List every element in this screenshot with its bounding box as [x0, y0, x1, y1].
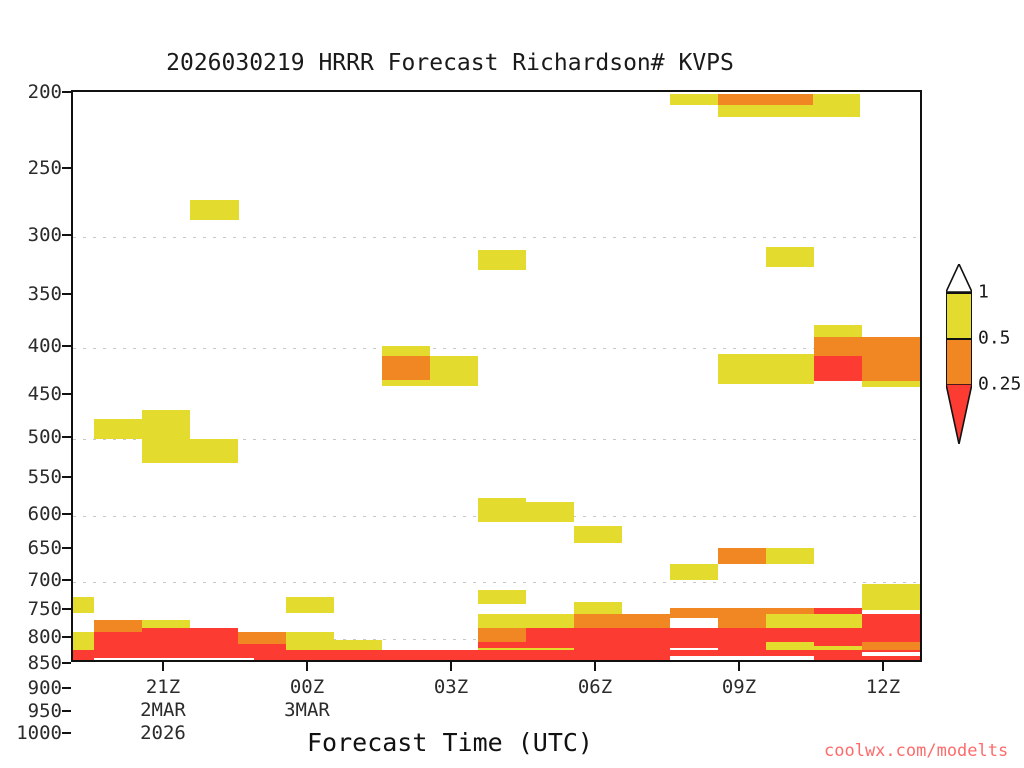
x-tick-label: 09Z [722, 676, 756, 698]
heatmap-cell [718, 354, 814, 384]
y-tick-mark [62, 636, 71, 638]
heatmap-cell [814, 325, 862, 337]
y-tick-label: 500 [0, 426, 62, 448]
y-tick-mark [62, 91, 71, 93]
colorbar-bottom-arrow [946, 384, 972, 444]
y-tick-label: 600 [0, 503, 62, 525]
heatmap-cell [670, 94, 718, 105]
y-tick-label: 400 [0, 335, 62, 357]
x-tick-label: 06Z [578, 676, 612, 698]
gridline-400 [73, 348, 920, 349]
y-axis: 2002503003504004505005506006507007508008… [0, 0, 71, 768]
y-tick-mark [62, 476, 71, 478]
heatmap-cell [814, 614, 862, 628]
heatmap-cell [814, 337, 922, 356]
plot-area [71, 90, 922, 662]
colorbar-tick-line [946, 292, 972, 294]
y-tick-label: 300 [0, 224, 62, 246]
gridline-300 [73, 237, 920, 238]
heatmap-cell [670, 656, 814, 660]
heatmap-cell [862, 652, 922, 656]
y-tick-mark [62, 513, 71, 515]
heatmap-cell [814, 356, 862, 381]
heatmap-cell [862, 614, 922, 628]
y-tick-label: 750 [0, 598, 62, 620]
x-tick-mark [738, 662, 740, 671]
heatmap-cell [670, 564, 718, 580]
heatmap-cell [286, 597, 334, 613]
colorbar-label: 0.25 [978, 374, 1021, 395]
heatmap-canvas [73, 92, 920, 660]
y-tick-mark [62, 547, 71, 549]
y-tick-label: 250 [0, 157, 62, 179]
heatmap-cell [813, 94, 860, 105]
heatmap-cell [382, 380, 478, 386]
heatmap-cell [73, 597, 94, 613]
colorbar-label: 1 [978, 282, 989, 303]
x-tick-label: 21Z [146, 676, 180, 698]
heatmap-cell [862, 381, 922, 387]
x-tick-sublabel-year: 2026 [140, 722, 186, 744]
y-tick-mark [62, 436, 71, 438]
heatmap-cell [73, 650, 922, 655]
heatmap-cell [430, 356, 478, 380]
x-tick-mark [306, 662, 308, 671]
heatmap-cell [526, 502, 574, 522]
heatmap-cell [766, 642, 814, 650]
colorbar-label: 0.5 [978, 328, 1011, 349]
heatmap-cell [478, 590, 526, 604]
y-tick-mark [62, 167, 71, 169]
y-tick-label: 350 [0, 283, 62, 305]
x-axis-title: Forecast Time (UTC) [0, 728, 900, 757]
x-tick-label: 03Z [434, 676, 468, 698]
x-tick-mark [882, 662, 884, 671]
x-tick-label: 12Z [866, 676, 900, 698]
heatmap-cell [766, 548, 814, 564]
colorbar-tick-line [946, 338, 972, 340]
x-tick-sublabel-date: 2MAR [140, 699, 186, 721]
heatmap-cell [574, 602, 622, 614]
heatmap-cell [718, 105, 860, 117]
x-tick-mark [450, 662, 452, 671]
gridline-700 [73, 582, 920, 583]
colorbar-segment-0.5-1 [946, 292, 972, 338]
heatmap-cell [190, 200, 239, 220]
y-tick-mark [62, 293, 71, 295]
heatmap-cell [574, 614, 670, 628]
x-tick-label: 00Z [290, 676, 324, 698]
y-tick-mark [62, 608, 71, 610]
heatmap-cell [670, 608, 718, 618]
heatmap-cell [73, 632, 94, 642]
y-tick-mark [62, 579, 71, 581]
page-title: 2026030219 HRRR Forecast Richardson# KVP… [0, 50, 900, 76]
heatmap-cell [526, 614, 574, 628]
heatmap-cell [862, 584, 922, 598]
x-tick-mark [162, 662, 164, 671]
y-tick-label: 450 [0, 383, 62, 405]
heatmap-cell [862, 356, 922, 381]
colorbar-legend: 10.50.25 [946, 292, 972, 477]
y-tick-mark [62, 234, 71, 236]
colorbar-top-arrow-outline [946, 264, 972, 292]
heatmap-cell [718, 94, 813, 105]
heatmap-cell [238, 632, 286, 644]
heatmap-cell [478, 498, 526, 522]
heatmap-cell [190, 439, 238, 463]
x-tick-mark [594, 662, 596, 671]
y-tick-label: 200 [0, 81, 62, 103]
y-tick-label: 550 [0, 466, 62, 488]
heatmap-cell [478, 614, 526, 628]
y-tick-label: 800 [0, 626, 62, 648]
heatmap-cell [478, 250, 526, 270]
heatmap-cell [382, 356, 430, 380]
heatmap-cell [574, 526, 622, 543]
x-tick-sublabel-date: 3MAR [284, 699, 330, 721]
heatmap-cell [94, 620, 142, 632]
y-tick-mark [62, 345, 71, 347]
heatmap-cell [334, 640, 382, 648]
chart-page: 2026030219 HRRR Forecast Richardson# KVP… [0, 0, 1024, 768]
y-tick-mark [62, 393, 71, 395]
heatmap-cell [862, 598, 922, 610]
watermark-link[interactable]: coolwx.com/modelts [824, 741, 1008, 761]
heatmap-cell [478, 628, 526, 642]
y-tick-label: 650 [0, 537, 62, 559]
heatmap-cell [766, 247, 814, 267]
y-tick-label: 700 [0, 569, 62, 591]
colorbar-segment-0.25-0.5 [946, 338, 972, 384]
heatmap-cell [382, 346, 430, 356]
heatmap-cell [286, 632, 334, 644]
heatmap-cell [766, 614, 814, 628]
heatmap-cell [718, 548, 766, 564]
